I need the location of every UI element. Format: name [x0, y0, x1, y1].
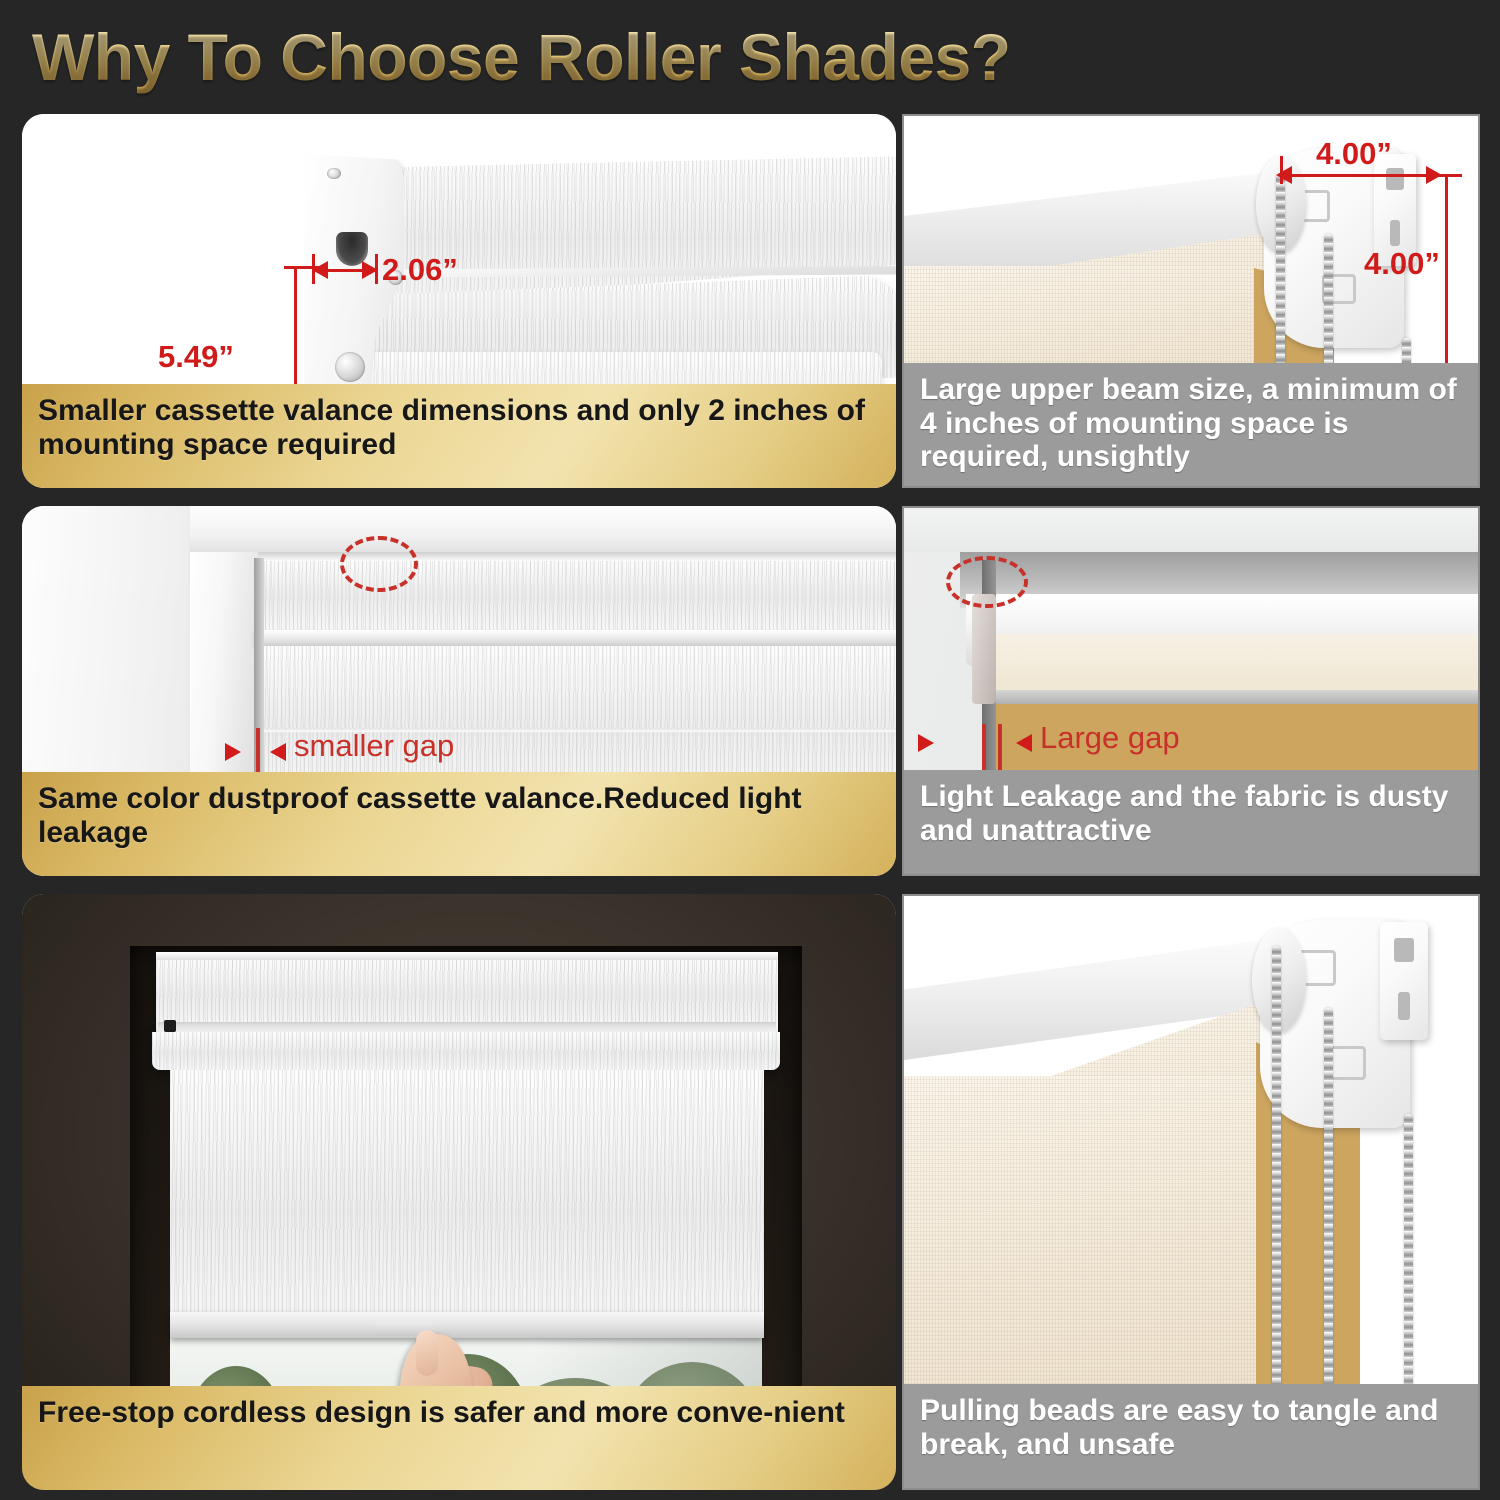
panel-2-caption: Large upper beam size, a minimum of 4 in…	[904, 363, 1478, 486]
valance-cassette	[156, 954, 778, 1032]
gap-arrow-left	[225, 743, 241, 761]
header: Why To Choose Roller Shades?	[32, 18, 1432, 98]
beam-width-arrow-right	[1426, 166, 1442, 184]
gap-marker-bar-2	[998, 724, 1002, 770]
gap-marker-bar	[256, 728, 260, 772]
height-dimension-label: 5.49”	[158, 339, 234, 375]
gap-arrow-right	[1016, 734, 1032, 752]
gap-arrow-left	[918, 734, 934, 752]
screw-bottom	[335, 352, 365, 382]
panel-4-caption: Light Leakage and the fabric is dusty an…	[904, 770, 1478, 874]
panel-smaller-cassette: 2.06” 5.49” Smaller cassette valance dim…	[22, 114, 896, 488]
panel-3-caption: Same color dustproof cassette valance.Re…	[22, 772, 896, 876]
bracket-notch-top	[1394, 938, 1414, 962]
bracket-notch-bottom	[1390, 220, 1400, 246]
page-title: Why To Choose Roller Shades?	[32, 18, 1432, 96]
panel-5-caption: Free-stop cordless design is safer and m…	[22, 1386, 896, 1490]
gap-arrow-right	[270, 743, 286, 761]
beam-width-arrow-left	[1276, 166, 1292, 184]
beam-width-line	[1282, 174, 1442, 177]
panel-dustproof-cassette: smaller gap Same color dustproof cassett…	[22, 506, 896, 876]
panel-1-caption: Smaller cassette valance dimensions and …	[22, 384, 896, 488]
wall-upper-band	[904, 508, 1478, 552]
valance-lower-lip	[152, 1032, 780, 1070]
bracket-notch-bottom	[1398, 992, 1410, 1020]
window-head-casing	[190, 506, 896, 552]
bead-chain-middle	[1324, 1008, 1333, 1432]
valance-top-highlight	[156, 952, 778, 960]
comparison-grid: 2.06” 5.49” Smaller cassette valance dim…	[0, 106, 1500, 1500]
finger-thumb	[416, 1330, 438, 1376]
valance-bottom-lip	[254, 630, 896, 646]
panel-large-upper-beam: 4.00” 4.00” Large upper beam size, a min…	[902, 114, 1480, 488]
panel-pulling-beads: Pulling beads are easy to tangle and bre…	[902, 894, 1480, 1490]
shade-fabric-main	[170, 1070, 764, 1328]
width-arrow-left	[312, 261, 328, 279]
panel-6-caption: Pulling beads are easy to tangle and bre…	[904, 1384, 1478, 1488]
shade-fabric-front	[904, 1076, 1272, 1432]
panel-cordless-design: Free-stop cordless design is safer and m…	[22, 894, 896, 1490]
width-dimension-label: 2.06”	[382, 252, 458, 288]
gap-highlight-ellipse	[946, 556, 1028, 608]
width-arrow-right	[362, 261, 378, 279]
panel-light-leakage: Large gap Light Leakage and the fabric i…	[902, 506, 1480, 876]
bead-chain-front	[1272, 946, 1281, 1432]
smaller-gap-label: smaller gap	[294, 728, 454, 764]
shade-bottom-rail	[170, 1312, 764, 1338]
bracket-clip	[972, 594, 996, 704]
beam-width-label: 4.00”	[1316, 136, 1392, 172]
screw-top	[327, 168, 341, 179]
headrail-bottom-edge	[990, 690, 1478, 704]
beam-height-label: 4.00”	[1364, 246, 1440, 282]
large-gap-label: Large gap	[1040, 720, 1180, 756]
gap-marker-bar-1	[982, 724, 986, 770]
bracket-logo-bottom	[1328, 1046, 1366, 1080]
headrail-cream-band	[990, 634, 1478, 694]
valance-end-dot	[164, 1020, 176, 1032]
beam-height-line	[1445, 174, 1448, 374]
gap-highlight-ellipse	[340, 536, 418, 592]
valance-groove	[158, 1022, 776, 1032]
